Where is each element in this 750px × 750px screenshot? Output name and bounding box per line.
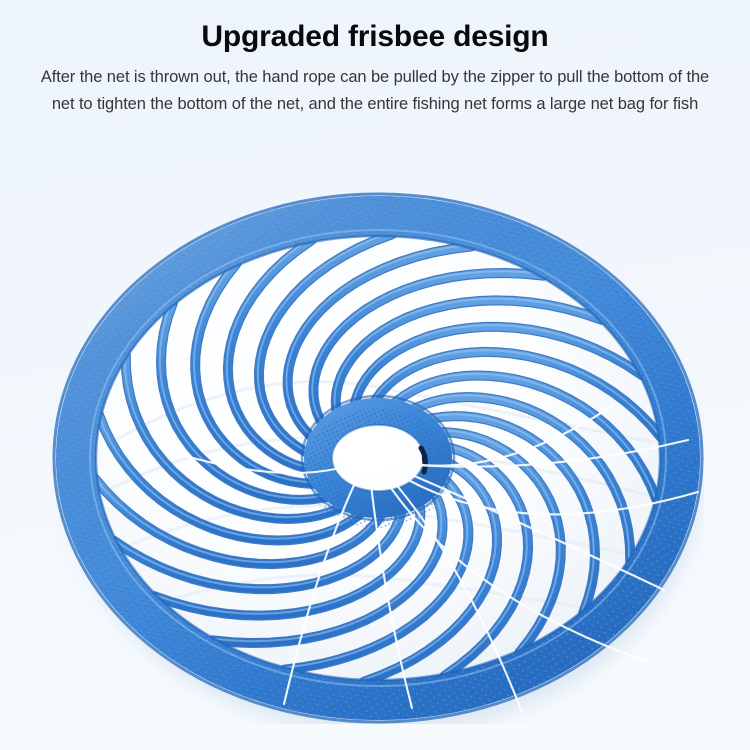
text-block: Upgraded frisbee design After the net is… <box>0 0 750 118</box>
product-image-frisbee-disc <box>52 192 704 724</box>
page-title: Upgraded frisbee design <box>0 19 750 54</box>
product-description: After the net is thrown out, the hand ro… <box>30 64 720 118</box>
frisbee-disc-illustration <box>52 192 704 724</box>
product-marketing-image: Upgraded frisbee design After the net is… <box>0 0 750 750</box>
